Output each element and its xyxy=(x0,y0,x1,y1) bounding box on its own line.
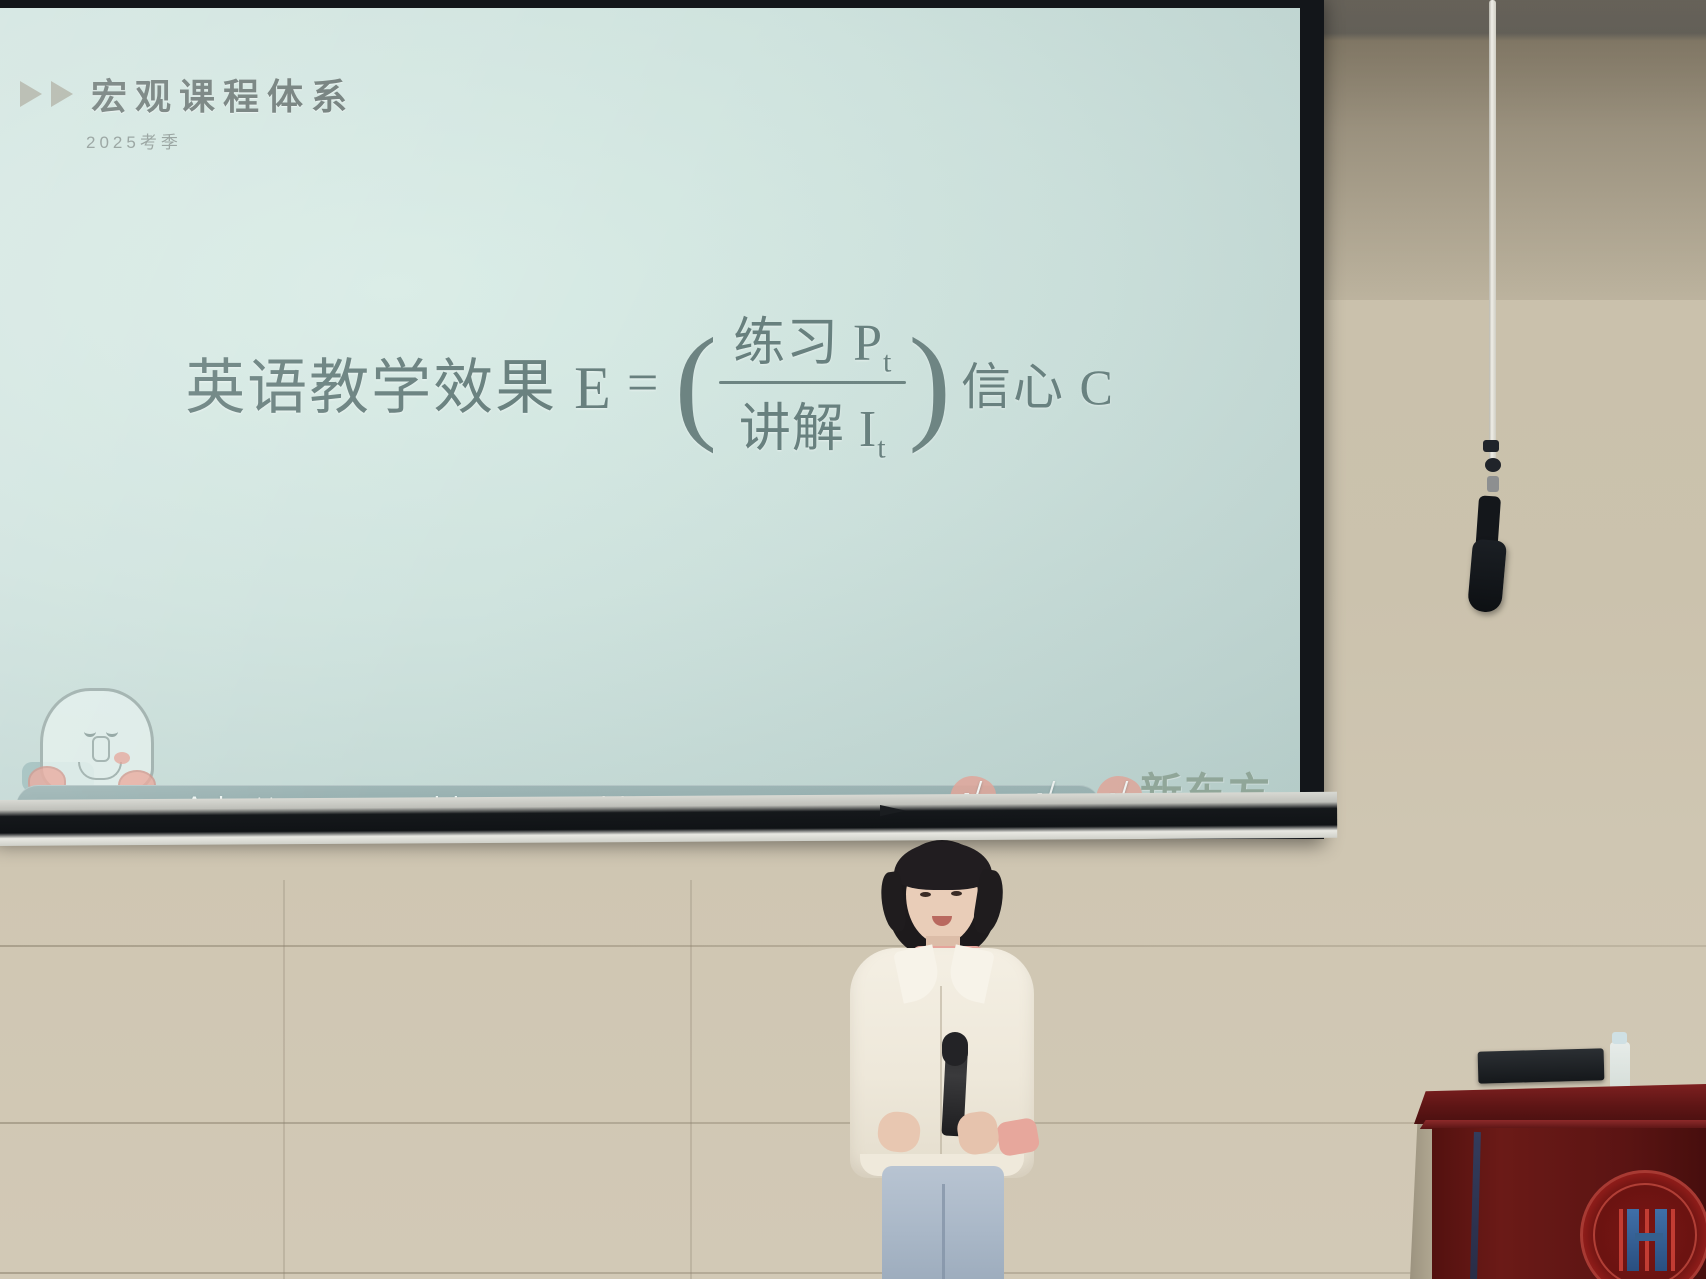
formula-right-hand-side: 信心 C xyxy=(961,347,1115,419)
ceiling-microphone-cable xyxy=(1489,0,1496,470)
presenter xyxy=(826,836,1056,1279)
slide-header: 宏观课程体系 xyxy=(20,68,355,120)
slide-subtitle: 2025考季 xyxy=(86,128,182,153)
lectern xyxy=(1414,1084,1706,1279)
ceiling-microphone-icon xyxy=(1467,539,1507,614)
formula-fraction: 练习 Pt 讲解 It xyxy=(719,298,906,468)
cartoon-mascot-icon xyxy=(26,680,166,800)
formula-denominator: 讲解 It xyxy=(725,384,901,467)
formula-open-paren: ( xyxy=(674,348,717,418)
formula-equals-sign: = xyxy=(627,351,659,415)
lecture-hall-photo: 宏观课程体系 2025考季 英语教学效果 E = ( 练习 Pt 讲解 It )… xyxy=(0,0,1706,1279)
wall-panel-seam xyxy=(690,880,692,1279)
podium-monitor xyxy=(1478,1048,1605,1083)
formula-numerator: 练习 Pt xyxy=(719,298,906,381)
projector-screen-bottom-rail xyxy=(0,792,1337,846)
wall-panel-seam xyxy=(283,880,285,1279)
double-triangle-right-icon xyxy=(20,81,73,107)
presentation-slide: 宏观课程体系 2025考季 英语教学效果 E = ( 练习 Pt 讲解 It )… xyxy=(0,8,1300,808)
teaching-effect-formula: 英语教学效果 E = ( 练习 Pt 讲解 It ) 信心 C xyxy=(150,298,1150,468)
formula-left-hand-side: 英语教学效果 E xyxy=(185,339,613,426)
slide-title: 宏观课程体系 xyxy=(91,68,355,120)
ceiling-microphone-clip xyxy=(1479,440,1505,500)
formula-close-paren: ) xyxy=(908,348,951,418)
